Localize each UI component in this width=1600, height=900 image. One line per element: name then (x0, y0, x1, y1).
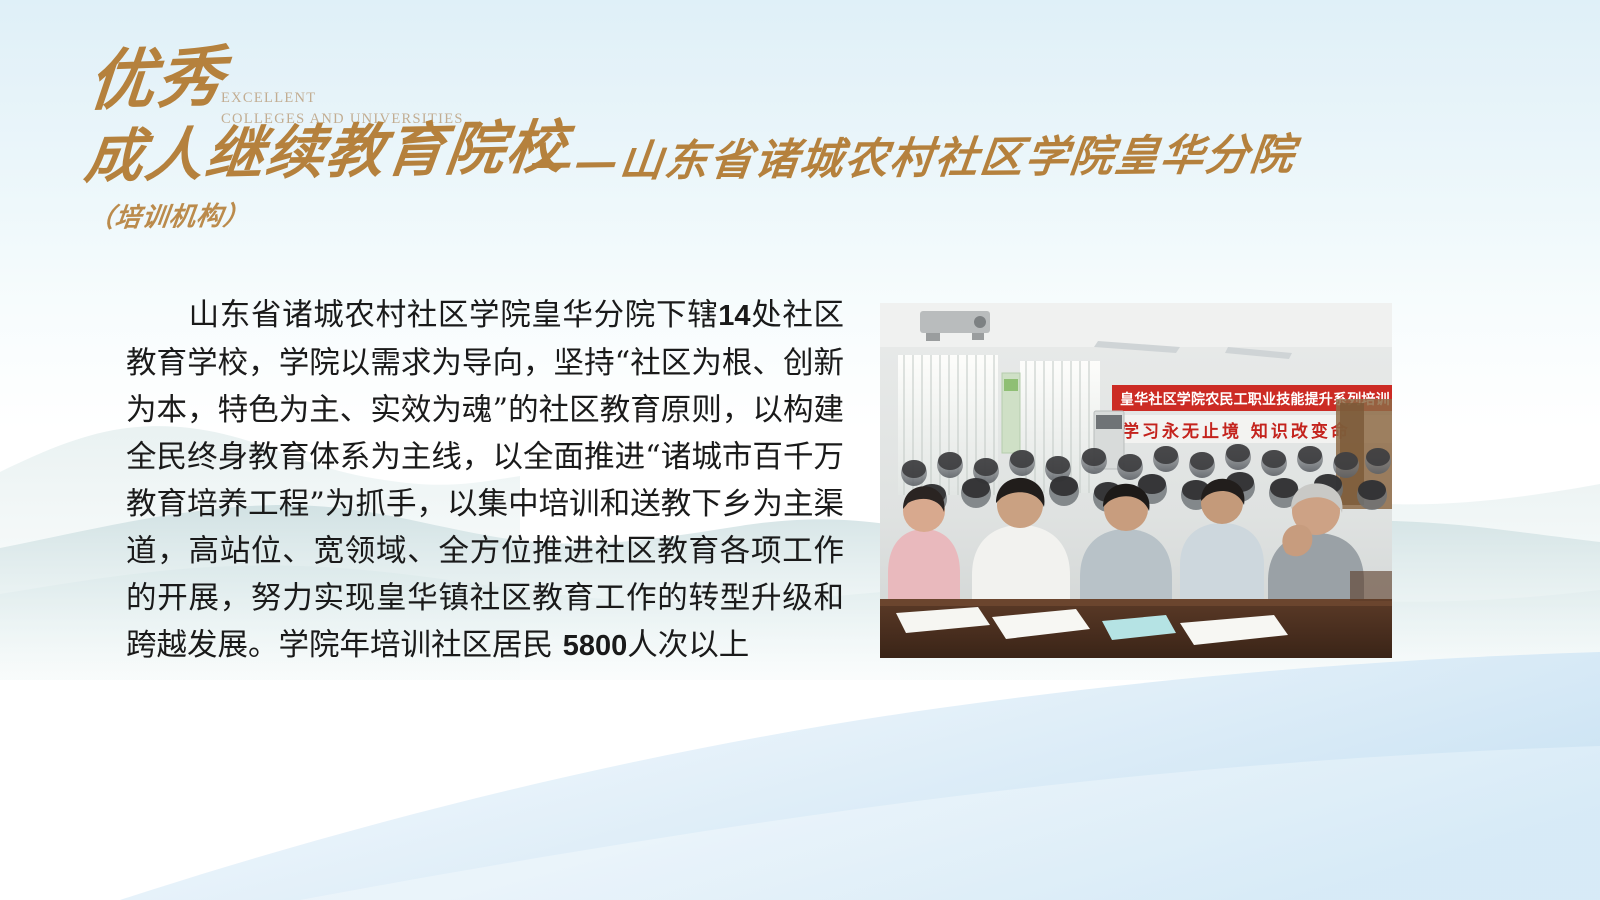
institution-subtitle: ——山东省诸城农村社区学院皇华分院 (527, 120, 1300, 190)
title-youxiu: 优秀 (86, 43, 228, 114)
classroom-photo: 皇华社区学院农民工职业技能提升系列培训 学习永无止境 知识改变命 (880, 303, 1392, 658)
english-line-1: EXCELLENT (221, 88, 464, 109)
slide-header: 优秀 EXCELLENT COLLEGES AND UNIVERSITIES 成… (0, 0, 1600, 250)
slide-root: 优秀 EXCELLENT COLLEGES AND UNIVERSITIES 成… (0, 0, 1600, 900)
title-parenthetical: （培训机构） (86, 195, 253, 235)
body-number: 14 (718, 300, 750, 332)
body-paragraph: 山东省诸城农村社区学院皇华分院下辖14处社区教育学校，学院以需求为导向，坚持“社… (126, 292, 844, 670)
body-text-run: 山东省诸城农村社区学院皇华分院下辖 (188, 298, 718, 333)
body-text-run: 处社区教育学校，学院以需求为导向，坚持“社区为根、创新为本，特色为主、实效为魂”… (126, 298, 844, 663)
body-number: 5800 (563, 630, 628, 662)
svg-text:学习永无止境 知识改变命: 学习永无止境 知识改变命 (1122, 421, 1351, 442)
classroom-photo-image: 皇华社区学院农民工职业技能提升系列培训 学习永无止境 知识改变命 (880, 303, 1392, 658)
title-main: 成人继续教育院校 (82, 118, 570, 186)
body-text-run: 人次以上 (627, 628, 749, 663)
